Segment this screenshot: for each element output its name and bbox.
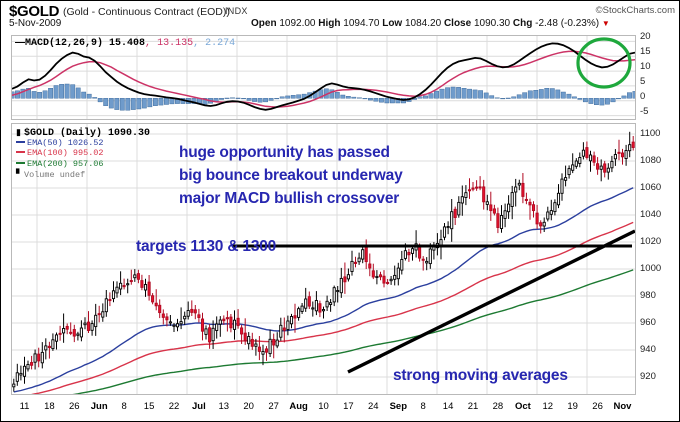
ema50-swatch [16, 141, 25, 143]
price-legend-title-row: ▮$GOLD (Daily) 1090.30 [16, 127, 150, 138]
x-axis-tick-15: 15 [144, 401, 155, 412]
open-value: 1092.00 [279, 18, 315, 29]
uptrend-line [348, 231, 635, 372]
stockcharts-watermark: ©StockCharts.com [596, 5, 675, 16]
close-label: Close [444, 18, 471, 29]
macd-ytick-neg5: -5 [640, 106, 648, 117]
ema200-swatch [16, 162, 25, 164]
annotation-line-2: big bounce breakout underway [179, 167, 403, 185]
x-axis-tick-nov: Nov [614, 401, 632, 412]
symbol-description: (Gold - Continuous Contract (EOD)) [63, 6, 230, 18]
price-legend: ▮$GOLD (Daily) 1090.30 EMA(50) 1026.52 E… [16, 127, 150, 180]
price-ytick-960: 960 [640, 317, 656, 328]
annotation-targets: targets 1130 & 1300 [136, 238, 276, 256]
close-value: 1090.30 [474, 18, 510, 29]
x-axis-tick-12: 12 [543, 401, 554, 412]
volume-label: Volume undef [24, 170, 85, 180]
price-ytick-1000: 1000 [640, 263, 661, 274]
x-axis-tick-28: 28 [493, 401, 504, 412]
price-ytick-1080: 1080 [640, 155, 661, 166]
macd-ytick-10: 10 [640, 61, 651, 72]
x-axis-tick-13: 13 [219, 401, 230, 412]
crossover-highlight-circle [578, 39, 630, 87]
price-ytick-1020: 1020 [640, 236, 661, 247]
quote-date: 5-Nov-2009 [9, 18, 61, 29]
price-ytick-980: 980 [640, 290, 656, 301]
x-axis-tick-11: 11 [20, 401, 30, 412]
x-axis-tick-oct: Oct [515, 401, 531, 412]
x-axis-tick-19: 19 [567, 401, 578, 412]
macd-signal-value: 13.135 [157, 38, 193, 49]
ema100-swatch [16, 151, 25, 153]
x-axis-tick-20: 20 [243, 401, 254, 412]
ema50-line [14, 188, 633, 392]
price-ytick-920: 920 [640, 371, 656, 382]
symbol-exchange: INDX [225, 6, 248, 16]
x-axis-tick-26: 26 [592, 401, 603, 412]
copyright-icon: © [596, 5, 603, 16]
x-axis-tick-8: 8 [121, 401, 126, 412]
macd-legend: —MACD(12,26,9) 15.408, 13.135, 2.274 [15, 37, 235, 49]
stockcharts-screenshot: $GOLD (Gold - Continuous Contract (EOD))… [0, 0, 680, 422]
price-ytick-1040: 1040 [640, 209, 661, 220]
x-axis-tick-18: 18 [44, 401, 55, 412]
ohlc-quote-bar: Open 1092.00 High 1094.70 Low 1084.20 Cl… [251, 18, 610, 29]
x-axis-tick-jun: Jun [91, 401, 108, 412]
macd-ytick-15: 15 [640, 46, 651, 57]
macd-value: 15.408 [109, 38, 145, 49]
ema100-legend-row: EMA(100) 995.02 [16, 148, 150, 159]
annotation-line-3: major MACD bullish crossover [179, 190, 399, 208]
ema200-label: EMA(200) 957.06 [27, 159, 104, 169]
macd-indicator-name: MACD(12,26,9) [25, 38, 103, 49]
low-label: Low [382, 18, 402, 29]
high-value: 1094.70 [343, 18, 379, 29]
annotation-line-1: huge opportunity has passed [179, 144, 390, 162]
price-ytick-1100: 1100 [640, 128, 660, 139]
macd-comma1: , [145, 38, 157, 49]
candlestick-icon: ▮ [16, 127, 24, 138]
x-axis-tick-jul: Jul [192, 401, 206, 412]
watermark-text: StockCharts.com [603, 5, 675, 16]
volume-legend-row: ▘Volume undef [16, 169, 150, 180]
high-label: High [318, 18, 340, 29]
macd-ytick-20: 20 [640, 31, 651, 42]
ema50-legend-row: EMA(50) 1026.52 [16, 138, 150, 149]
price-ytick-1060: 1060 [640, 182, 661, 193]
x-axis-tick-14: 14 [443, 401, 454, 412]
x-axis-tick-24: 24 [368, 401, 379, 412]
x-axis-tick-sep: Sep [390, 401, 407, 412]
ema50-label: EMA(50) 1026.52 [27, 138, 104, 148]
chart-header: $GOLD (Gold - Continuous Contract (EOD))… [1, 1, 680, 33]
open-label: Open [251, 18, 277, 29]
annotation-moving-averages: strong moving averages [393, 367, 568, 385]
chg-label: Chg [513, 18, 532, 29]
macd-histogram [12, 84, 635, 110]
macd-comma2: , [193, 38, 205, 49]
x-axis-tick-17: 17 [343, 401, 354, 412]
chg-value: -2.48 (-0.23%) [535, 18, 599, 29]
x-axis-tick-22: 22 [169, 401, 180, 412]
macd-line-swatch: — [15, 37, 25, 48]
down-arrow-icon: ▼ [602, 19, 610, 28]
x-axis-tick-aug: Aug [289, 401, 307, 412]
volume-bars-icon: ▘ [16, 169, 24, 180]
x-axis-tick-10: 10 [318, 401, 329, 412]
x-axis-tick-8: 8 [421, 401, 426, 412]
ema100-label: EMA(100) 995.02 [27, 148, 104, 158]
x-axis-tick-26: 26 [69, 401, 80, 412]
low-value: 1084.20 [405, 18, 441, 29]
ema200-legend-row: EMA(200) 957.06 [16, 159, 150, 170]
x-axis-tick-21: 21 [468, 401, 479, 412]
macd-histogram-value: 2.274 [205, 38, 235, 49]
macd-ytick-5: 5 [640, 76, 645, 87]
x-axis-tick-27: 27 [268, 401, 279, 412]
price-ytick-940: 940 [640, 344, 656, 355]
macd-ytick-0: 0 [640, 91, 645, 102]
